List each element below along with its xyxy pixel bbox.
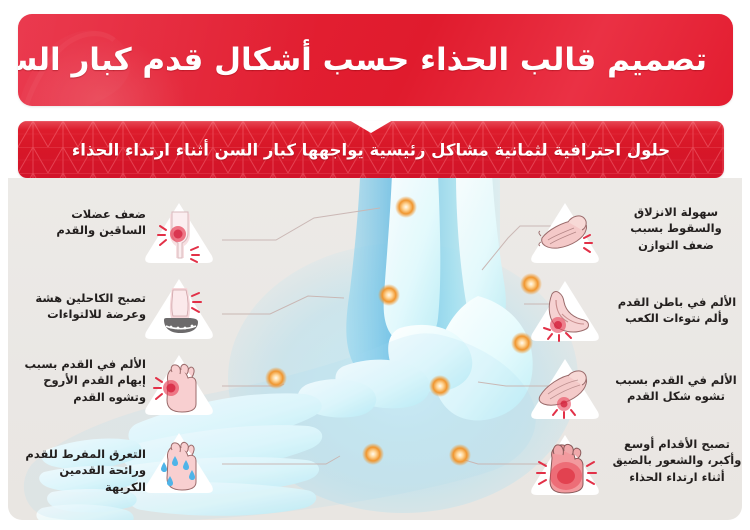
issue-item-brittle-ankles[interactable]: تصبح الكاحلين هشة وعرضة للالتواءات bbox=[24, 276, 222, 348]
slipping-foot-icon bbox=[528, 200, 602, 266]
issue-label: تصبح الأقدام أوسع وأكبر، والشعور بالضيق … bbox=[612, 436, 742, 485]
heel-spur-pain-icon bbox=[528, 278, 602, 344]
flat-foot-deformity-icon bbox=[528, 356, 602, 422]
knee-joint-pain-icon bbox=[142, 200, 216, 266]
issue-item-plantar-heel-spur-pain[interactable]: الألم في باطن القدم وألم نتوءات الكعب bbox=[528, 278, 742, 354]
issue-item-excessive-sweating-odor[interactable]: التعرق المفرط للقدم ورائحة القدمين الكري… bbox=[24, 430, 222, 506]
issue-label: التعرق المفرط للقدم ورائحة القدمين الكري… bbox=[20, 446, 146, 495]
sweaty-foot-droplets-icon bbox=[142, 430, 216, 496]
issue-label: الألم في القدم بسبب إبهام القدم الأروح و… bbox=[22, 356, 146, 405]
infographic-canvas: تصميم قالب الحذاء حسب أشكال قدم كبار الس… bbox=[0, 0, 750, 530]
issue-label: الألم في القدم بسبب تشوه شكل القدم bbox=[612, 372, 740, 405]
issue-label: ضعف عضلات الساقين والقدم bbox=[28, 206, 146, 239]
issue-label: الألم في باطن القدم وألم نتوءات الكعب bbox=[612, 294, 742, 327]
issue-item-bunion-hallux-valgus[interactable]: الألم في القدم بسبب إبهام القدم الأروح و… bbox=[24, 352, 222, 428]
issue-item-wider-larger-feet[interactable]: تصبح الأقدام أوسع وأكبر، والشعور بالضيق … bbox=[528, 432, 742, 512]
ankle-sprain-shoe-icon bbox=[142, 276, 216, 342]
page-subtitle: حلول احترافية لثمانية مشاكل رئيسية يواجه… bbox=[32, 140, 710, 159]
title-bar: تصميم قالب الحذاء حسب أشكال قدم كبار الس… bbox=[18, 14, 733, 106]
content-panel: ضعف عضلات الساقين والقدم تصبح الكاحلين ه… bbox=[8, 178, 742, 520]
subtitle-ribbon: حلول احترافية لثمانية مشاكل رئيسية يواجه… bbox=[18, 121, 724, 178]
swollen-wide-foot-icon bbox=[528, 432, 602, 498]
issue-item-foot-deformity-pain[interactable]: الألم في القدم بسبب تشوه شكل القدم bbox=[528, 356, 742, 432]
bunion-foot-top-icon bbox=[142, 352, 216, 418]
page-title: تصميم قالب الحذاء حسب أشكال قدم كبار الس… bbox=[44, 42, 707, 78]
issue-item-slip-and-fall-balance[interactable]: سهولة الانزلاق والسقوط بسبب ضعف التوازن bbox=[528, 200, 742, 276]
issue-label: تصبح الكاحلين هشة وعرضة للالتواءات bbox=[24, 290, 146, 323]
issue-label: سهولة الانزلاق والسقوط بسبب ضعف التوازن bbox=[612, 204, 740, 253]
ribbon-notch bbox=[349, 121, 393, 133]
issue-item-weak-leg-foot-muscles[interactable]: ضعف عضلات الساقين والقدم bbox=[24, 200, 222, 272]
